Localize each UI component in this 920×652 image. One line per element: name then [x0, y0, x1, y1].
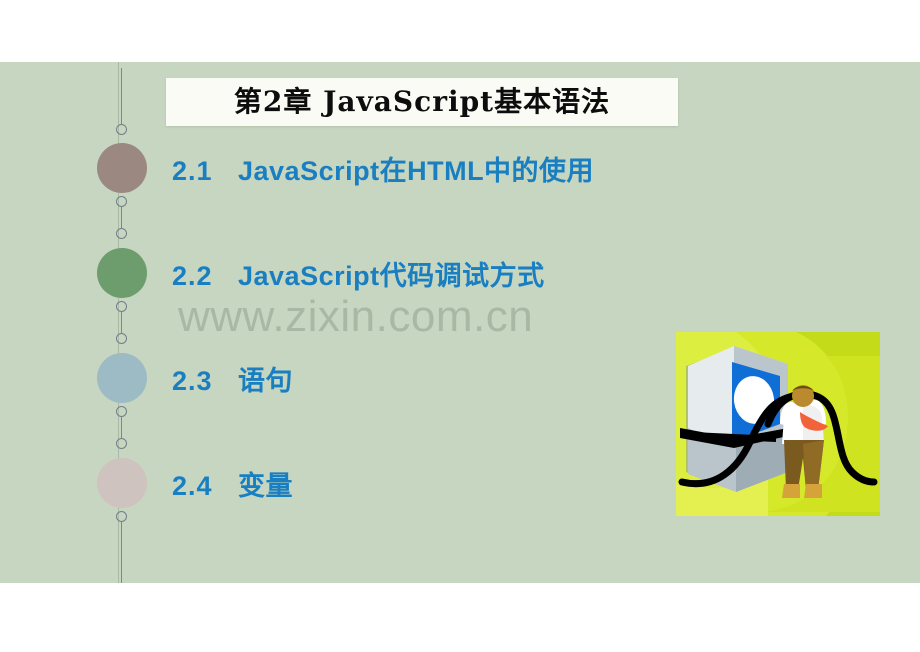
bullet-marker-blue[interactable] [97, 353, 147, 403]
rail-ring-8 [116, 511, 127, 522]
agenda-item-4-label: 变量 [238, 473, 293, 500]
rail-segment-top [121, 68, 122, 124]
bullet-marker-mauve[interactable] [97, 143, 147, 193]
bullet-marker-rose[interactable] [97, 458, 147, 508]
agenda-item-3[interactable]: 2.3 语句 [172, 368, 293, 395]
rail-segment-3 [121, 312, 122, 333]
slide-root: www.zixin.com.cn 第2章 JavaScript基本语法 2.1 … [0, 0, 920, 652]
agenda-item-2-label: JavaScript代码调试方式 [238, 263, 545, 290]
bullet-marker-green[interactable] [97, 248, 147, 298]
agenda-item-2[interactable]: 2.2 JavaScript代码调试方式 [172, 263, 545, 290]
agenda-item-1[interactable]: 2.1 JavaScript在HTML中的使用 [172, 158, 594, 185]
clipart-computer-and-person [676, 332, 880, 516]
rail-ring-7 [116, 438, 127, 449]
agenda-item-1-label: JavaScript在HTML中的使用 [238, 158, 594, 185]
rail-ring-1 [116, 124, 127, 135]
agenda-item-4[interactable]: 2.4 变量 [172, 473, 293, 500]
rail-ring-5 [116, 333, 127, 344]
agenda-item-4-number: 2.4 [172, 473, 238, 500]
slide-title-plate: 第2章 JavaScript基本语法 [166, 78, 678, 126]
agenda-item-3-number: 2.3 [172, 368, 238, 395]
agenda-item-1-number: 2.1 [172, 158, 238, 185]
agenda-item-2-number: 2.2 [172, 263, 238, 290]
rail-ring-2 [116, 196, 127, 207]
rail-segment-bottom [121, 522, 122, 583]
rail-segment-4 [121, 417, 122, 438]
rail-segment-2 [121, 207, 122, 228]
rail-ring-4 [116, 301, 127, 312]
rail-ring-3 [116, 228, 127, 239]
page-title: 第2章 JavaScript基本语法 [234, 88, 610, 116]
rail-ring-6 [116, 406, 127, 417]
agenda-item-3-label: 语句 [238, 368, 293, 395]
